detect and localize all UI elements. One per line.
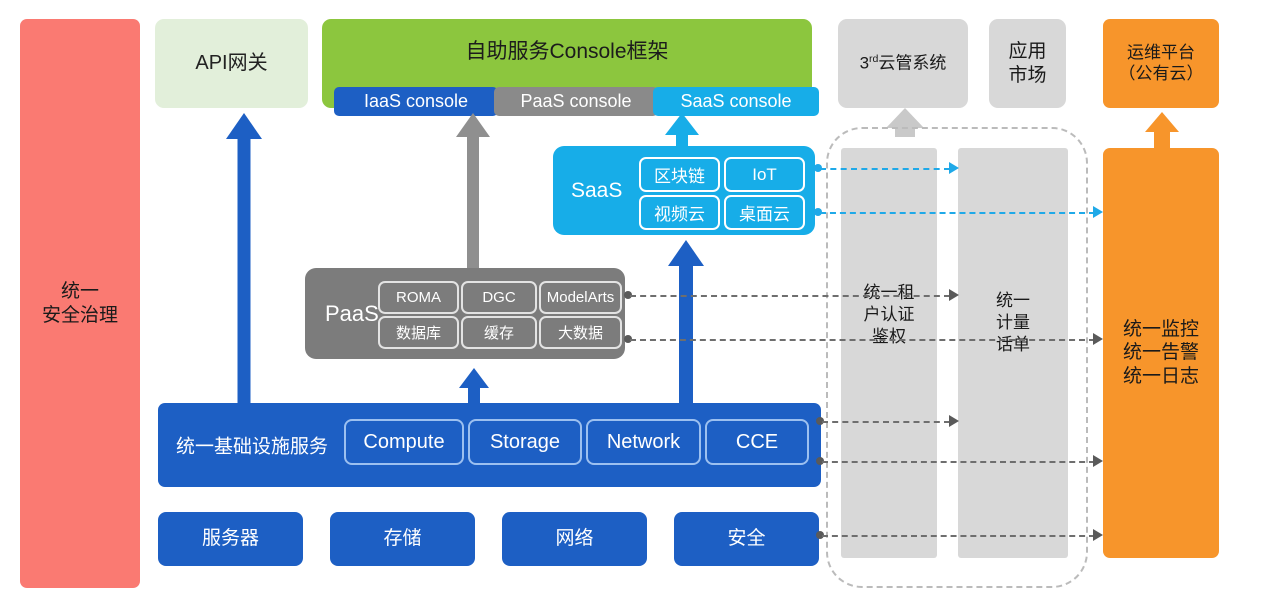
connector-paas-to-tenant-auth bbox=[630, 295, 950, 297]
security-governance-panel: 统一 安全治理 bbox=[20, 19, 140, 588]
infra-chip-network-label: Network bbox=[607, 431, 680, 454]
hardware-box-storage: 存储 bbox=[330, 512, 475, 566]
connector-arrowhead-paas-to-ops bbox=[1093, 333, 1103, 345]
console-chip-iaas[interactable]: IaaS console bbox=[334, 87, 498, 116]
saas-chip-video-cloud[interactable]: 视频云 bbox=[639, 195, 720, 230]
saas-chip-desktop-cloud[interactable]: 桌面云 bbox=[724, 195, 805, 230]
paas-chip-roma[interactable]: ROMA bbox=[378, 281, 459, 314]
connector-saas-to-ops bbox=[820, 212, 1095, 214]
api-gateway-box: API网关 bbox=[155, 19, 308, 108]
connector-infra-to-tenant-auth bbox=[822, 421, 950, 423]
infra-chip-cce-label: CCE bbox=[736, 431, 778, 454]
arrow-paas-to-console bbox=[455, 113, 491, 268]
console-framework-panel: 自助服务Console框架 IaaS console PaaS console … bbox=[322, 19, 812, 108]
api-gateway-label: API网关 bbox=[195, 51, 267, 75]
infra-chip-cce[interactable]: CCE bbox=[705, 419, 809, 465]
console-chip-saas[interactable]: SaaS console bbox=[653, 87, 819, 116]
hardware-box-network-label: 网络 bbox=[555, 527, 593, 550]
arrow-ops-body-to-ops-top bbox=[1144, 112, 1180, 148]
connector-arrowhead-saas-upper bbox=[949, 162, 959, 174]
pillar-metering-billing-label: 统一 计量 话单 bbox=[958, 290, 1068, 355]
arrow-infra-to-saas bbox=[668, 240, 704, 405]
connector-infra-to-ops bbox=[822, 461, 1095, 463]
saas-chip-blockchain[interactable]: 区块链 bbox=[639, 157, 720, 192]
saas-chip-iot[interactable]: IoT bbox=[724, 157, 805, 192]
paas-chip-bigdata-label: 大数据 bbox=[558, 322, 603, 343]
ops-platform-body-box: 统一监控 统一告警 统一日志 bbox=[1103, 148, 1219, 558]
saas-chip-desktop-cloud-label: 桌面云 bbox=[739, 200, 790, 225]
paas-chip-cache[interactable]: 缓存 bbox=[461, 316, 537, 349]
security-governance-label: 统一 安全治理 bbox=[42, 280, 118, 326]
connector-arrowhead-hardware-to-ops bbox=[1093, 529, 1103, 541]
infrastructure-service-bar: 统一基础设施服务 Compute Storage Network CCE bbox=[158, 403, 821, 487]
infra-chip-compute-label: Compute bbox=[363, 431, 444, 454]
app-market-label: 应用 市场 bbox=[1008, 40, 1046, 86]
console-chip-saas-label: SaaS console bbox=[680, 91, 791, 112]
connector-arrowhead-infra-to-ops bbox=[1093, 455, 1103, 467]
saas-chip-video-cloud-label: 视频云 bbox=[654, 200, 705, 225]
paas-chip-modelarts-label: ModelArts bbox=[547, 289, 615, 306]
paas-chip-modelarts[interactable]: ModelArts bbox=[539, 281, 622, 314]
app-market-box: 应用 市场 bbox=[989, 19, 1066, 108]
ops-platform-top-label: 运维平台 （公有云） bbox=[1119, 43, 1204, 84]
connector-hardware-to-ops bbox=[822, 535, 1095, 537]
paas-chip-dgc-label: DGC bbox=[482, 289, 515, 306]
paas-chip-database-label: 数据库 bbox=[396, 322, 441, 343]
paas-chip-roma-label: ROMA bbox=[396, 289, 441, 306]
connector-paas-to-ops bbox=[630, 339, 1095, 341]
console-chip-paas[interactable]: PaaS console bbox=[494, 87, 658, 116]
infra-chip-compute[interactable]: Compute bbox=[344, 419, 464, 465]
architecture-diagram: 统一 安全治理 API网关 自助服务Console框架 IaaS console… bbox=[0, 0, 1265, 605]
hardware-box-storage-label: 存储 bbox=[383, 527, 421, 550]
hardware-box-server-label: 服务器 bbox=[202, 527, 259, 550]
infra-chip-storage[interactable]: Storage bbox=[468, 419, 582, 465]
pillar-tenant-auth bbox=[841, 148, 937, 558]
console-chip-iaas-label: IaaS console bbox=[364, 91, 468, 112]
third-party-cloud-mgmt-label: 3rd云管系统 bbox=[860, 53, 947, 74]
ops-platform-top-box: 运维平台 （公有云） bbox=[1103, 19, 1219, 108]
paas-chip-dgc[interactable]: DGC bbox=[461, 281, 537, 314]
saas-chip-iot-label: IoT bbox=[752, 165, 777, 185]
infrastructure-service-name: 统一基础设施服务 bbox=[176, 432, 328, 459]
paas-layer-box: PaaS ROMA DGC ModelArts 数据库 缓存 大数据 bbox=[305, 268, 625, 359]
paas-chip-bigdata[interactable]: 大数据 bbox=[539, 316, 622, 349]
paas-layer-name: PaaS bbox=[325, 301, 379, 327]
ops-platform-body-label: 统一监控 统一告警 统一日志 bbox=[1123, 318, 1199, 388]
saas-layer-name: SaaS bbox=[571, 179, 622, 203]
paas-chip-database[interactable]: 数据库 bbox=[378, 316, 459, 349]
infra-chip-storage-label: Storage bbox=[490, 431, 560, 454]
hardware-box-network: 网络 bbox=[502, 512, 647, 566]
third-party-cloud-mgmt-box: 3rd云管系统 bbox=[838, 19, 968, 108]
console-chip-paas-label: PaaS console bbox=[520, 91, 631, 112]
saas-chip-blockchain-label: 区块链 bbox=[654, 162, 705, 187]
arrow-infra-to-paas bbox=[458, 368, 490, 404]
hardware-box-security: 安全 bbox=[674, 512, 819, 566]
paas-chip-cache-label: 缓存 bbox=[484, 322, 514, 343]
saas-layer-box: SaaS 区块链 IoT 视频云 桌面云 bbox=[553, 146, 815, 235]
connector-saas-to-metering-upper bbox=[820, 168, 950, 170]
connector-arrowhead-saas-to-ops bbox=[1093, 206, 1103, 218]
infra-chip-network[interactable]: Network bbox=[586, 419, 701, 465]
arrow-infra-to-api-gateway bbox=[226, 113, 262, 403]
hardware-box-server: 服务器 bbox=[158, 512, 303, 566]
hardware-box-security-label: 安全 bbox=[727, 527, 765, 550]
pillar-tenant-auth-label: 统一租 户认证 鉴权 bbox=[841, 282, 937, 347]
console-framework-title: 自助服务Console框架 bbox=[322, 35, 812, 65]
connector-arrowhead-paas-upper bbox=[949, 289, 959, 301]
connector-arrowhead-infra-upper bbox=[949, 415, 959, 427]
